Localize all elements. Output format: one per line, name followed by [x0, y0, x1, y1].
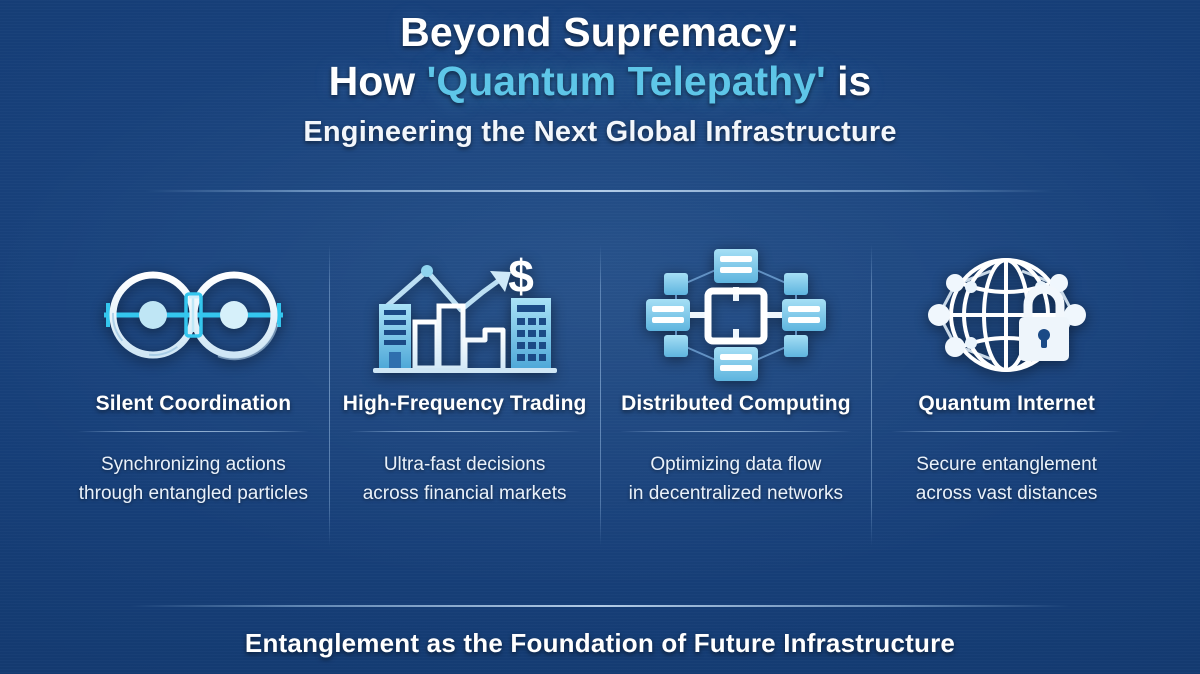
infographic-slide: Beyond Supremacy: How 'Quantum Telepathy… [0, 0, 1200, 674]
footer-divider [130, 605, 1070, 607]
card-description: Secure entanglement across vast distance… [916, 450, 1098, 509]
card-title: High-Frequency Trading [343, 392, 587, 416]
secure-globe-icon [899, 240, 1114, 390]
header-divider [145, 190, 1055, 192]
card-description-line-2: through entangled particles [79, 479, 308, 508]
title-suffix: is [826, 58, 872, 104]
title-line-2: How 'Quantum Telepathy' is [0, 56, 1200, 107]
footer-caption: Entanglement as the Foundation of Future… [0, 628, 1200, 659]
svg-text:$: $ [508, 250, 534, 302]
subtitle: Engineering the Next Global Infrastructu… [0, 116, 1200, 149]
card-description-line-1: Optimizing data flow [629, 450, 843, 479]
card-description-line-2: across vast distances [916, 479, 1098, 508]
card-description-line-1: Synchronizing actions [79, 450, 308, 479]
title-line-1: Beyond Supremacy: [0, 8, 1200, 56]
card-title: Quantum Internet [918, 392, 1095, 416]
title-prefix: How [329, 58, 427, 104]
entangled-particles-icon [86, 240, 301, 390]
card-description-line-1: Secure entanglement [916, 450, 1098, 479]
card-divider [77, 431, 309, 432]
card-description-line-1: Ultra-fast decisions [363, 450, 567, 479]
distributed-network-icon [646, 240, 826, 390]
header: Beyond Supremacy: How 'Quantum Telepathy… [0, 8, 1200, 149]
card-description: Ultra-fast decisions across financial ma… [363, 450, 567, 509]
feature-card-quantum-internet[interactable]: Quantum Internet Secure entanglement acr… [871, 240, 1142, 550]
feature-card-silent-coordination[interactable]: Silent Coordination Synchronizing action… [58, 240, 329, 550]
title-accent-phrase: 'Quantum Telepathy' [427, 58, 826, 104]
card-description-line-2: in decentralized networks [629, 479, 843, 508]
card-divider [891, 431, 1123, 432]
card-description: Optimizing data flow in decentralized ne… [629, 450, 843, 509]
feature-card-high-frequency-trading[interactable]: $ [329, 240, 601, 550]
card-divider [620, 431, 852, 432]
card-title: Silent Coordination [96, 392, 292, 416]
feature-card-distributed-computing[interactable]: Distributed Computing Optimizing data fl… [600, 240, 871, 550]
financial-trading-icon: $ [365, 240, 565, 390]
feature-card-grid: Silent Coordination Synchronizing action… [58, 240, 1142, 550]
card-description-line-2: across financial markets [363, 479, 567, 508]
card-description: Synchronizing actions through entangled … [79, 450, 308, 509]
card-divider [349, 431, 581, 432]
card-title: Distributed Computing [621, 392, 851, 416]
